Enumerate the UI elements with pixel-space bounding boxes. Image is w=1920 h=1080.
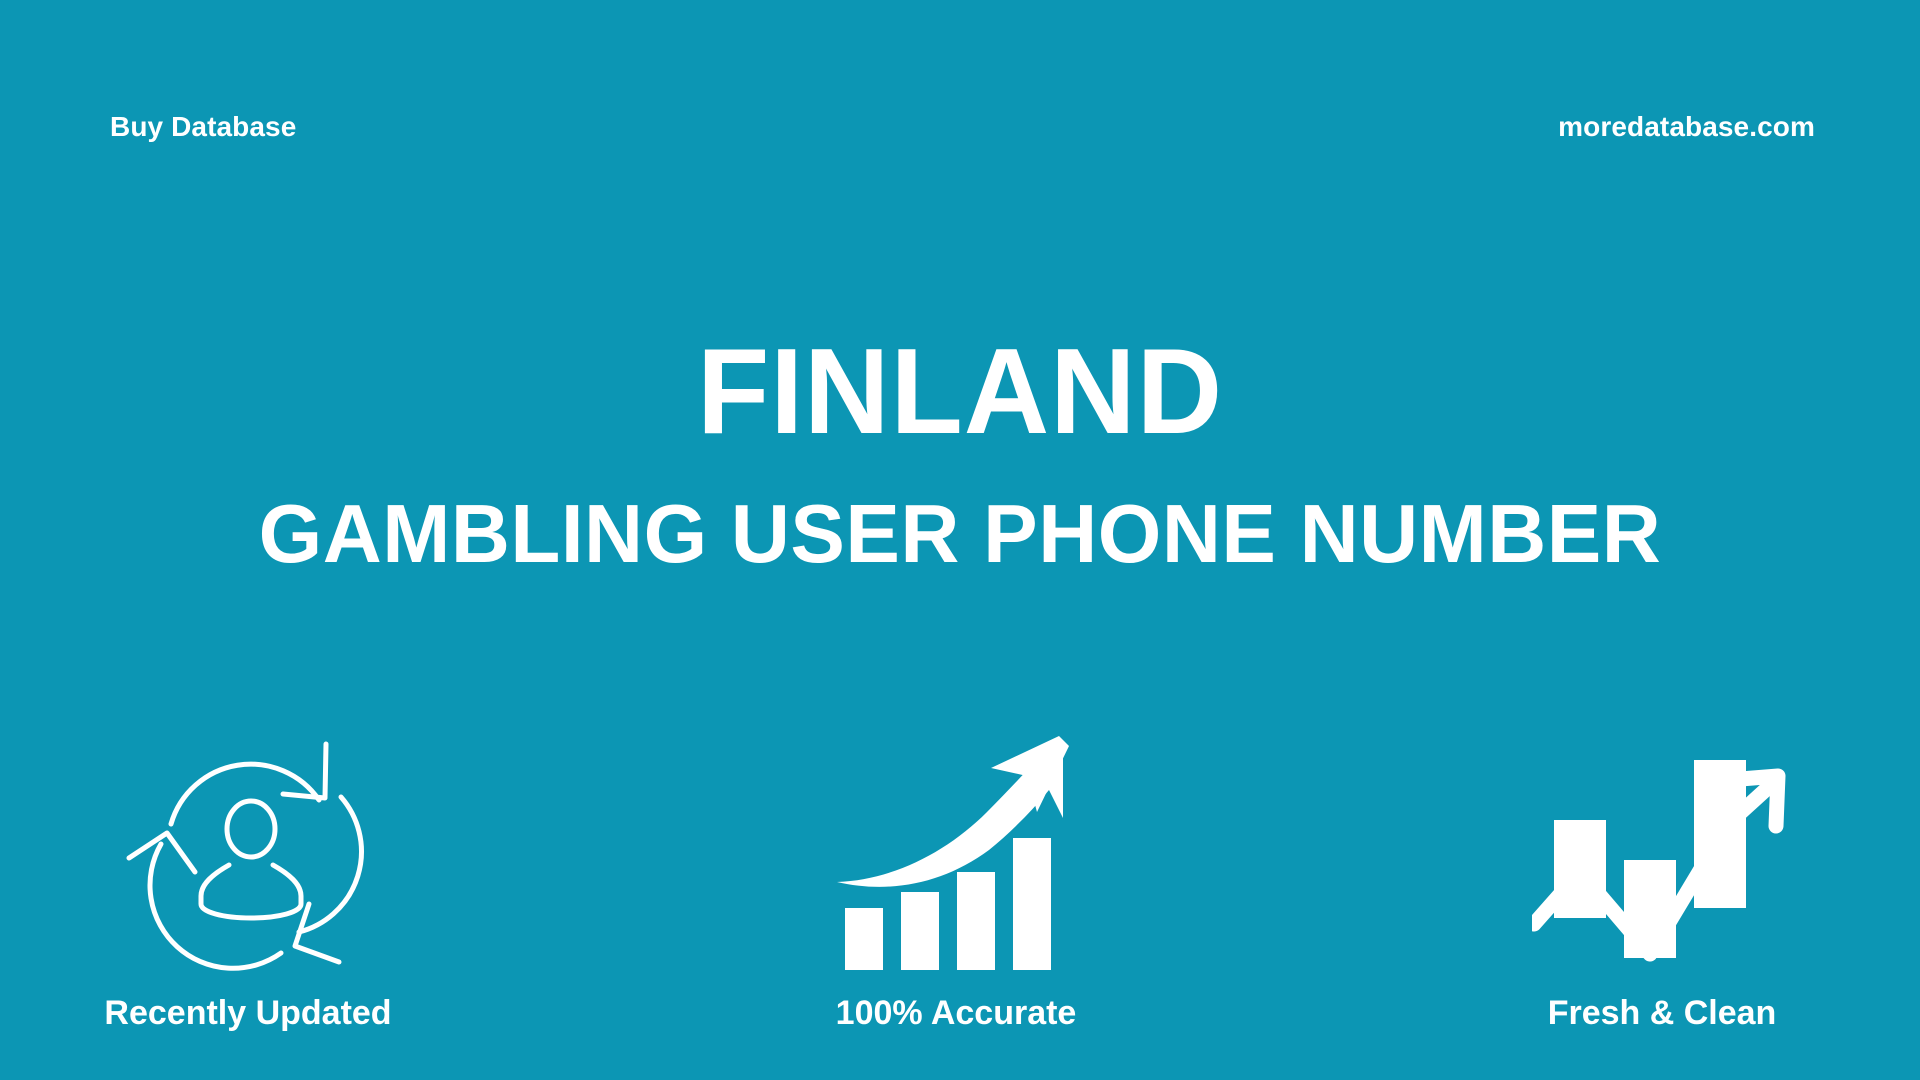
bar-chart-trend-line-icon xyxy=(1532,732,1792,982)
website-url-label: moredatabase.com xyxy=(1558,113,1815,141)
hero-title-block: FINLAND GAMBLING USER PHONE NUMBER xyxy=(0,330,1920,575)
user-refresh-cycle-icon xyxy=(123,732,373,982)
feature-label: 100% Accurate xyxy=(836,996,1077,1030)
country-title: FINLAND xyxy=(29,330,1891,452)
banner-header: Buy Database moredatabase.com xyxy=(110,104,1815,150)
feature-item-100-accurate: 100% Accurate xyxy=(676,732,1236,1030)
feature-list: Recently Updated 100% Accurate xyxy=(0,690,1920,1030)
feature-item-fresh-clean: Fresh & Clean xyxy=(1382,732,1920,1030)
feature-label: Fresh & Clean xyxy=(1548,996,1777,1030)
brand-label: Buy Database xyxy=(110,113,296,141)
product-title: GAMBLING USER PHONE NUMBER xyxy=(14,492,1905,575)
growth-bar-chart-arrow-icon xyxy=(831,732,1081,982)
feature-label: Recently Updated xyxy=(104,996,391,1030)
feature-item-recently-updated: Recently Updated xyxy=(0,732,528,1030)
promo-banner: Buy Database moredatabase.com FINLAND GA… xyxy=(0,0,1920,1080)
